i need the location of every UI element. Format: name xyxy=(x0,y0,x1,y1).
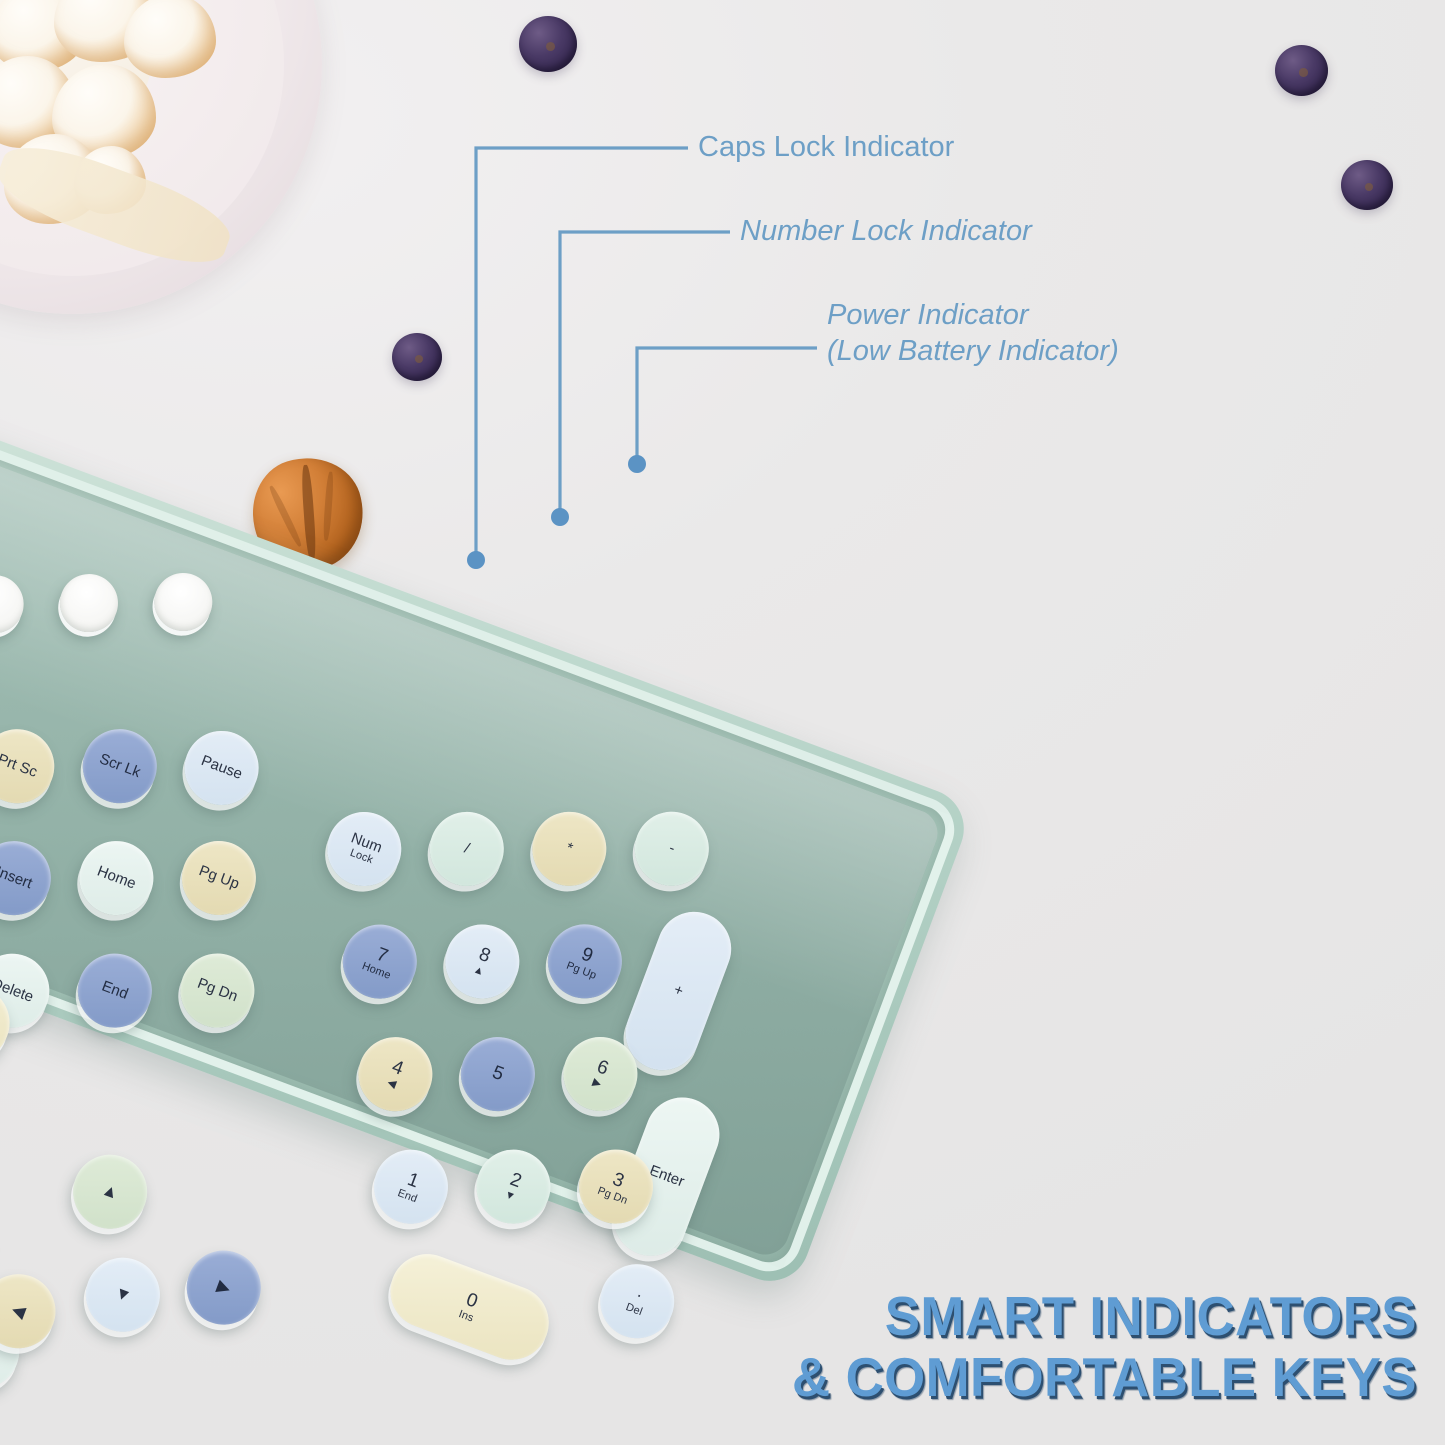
key-label: Pg Dn xyxy=(195,976,240,1005)
key-label: + xyxy=(672,982,686,1000)
key-arr-dn[interactable]: ▼ xyxy=(75,1247,170,1342)
callout-label-power: Power Indicator (Low Battery Indicator) xyxy=(827,298,1119,369)
key-label: ◀ xyxy=(9,1300,28,1321)
key-label: End xyxy=(100,979,131,1003)
key-sublabel: Home xyxy=(360,961,392,982)
key-sublabel: ▲ xyxy=(471,964,485,979)
key-label: / xyxy=(462,841,471,857)
key-label: Home xyxy=(95,864,138,893)
headline: SMART INDICATORS & COMFORTABLE KEYS xyxy=(792,1286,1417,1409)
key-sublabel: Del xyxy=(624,1302,644,1319)
key-arr-up[interactable]: ▲ xyxy=(63,1144,158,1239)
key-label: Insert xyxy=(0,864,34,892)
product-scene: F11ὐfF12⎔Prt ScScr LkPauseInsertHomePg U… xyxy=(0,0,1445,1445)
key-label: ▶ xyxy=(214,1277,233,1298)
blueberry xyxy=(519,16,577,72)
key-label: ▼ xyxy=(112,1283,134,1306)
callout-label-caps-lock: Caps Lock Indicator xyxy=(698,130,954,166)
key-sublabel: Pg Dn xyxy=(596,1186,629,1208)
key-label: Scr Lk xyxy=(97,751,142,781)
key-arr-lf[interactable]: ◀ xyxy=(0,1264,66,1359)
key-label: Prt Sc xyxy=(0,752,39,781)
key-label: · xyxy=(634,1286,646,1305)
key-label: - xyxy=(667,840,677,857)
key-sublabel: ▼ xyxy=(503,1189,517,1204)
blueberry xyxy=(1341,160,1393,210)
key-numdel[interactable]: ·Del xyxy=(590,1254,685,1349)
blueberry xyxy=(392,333,442,381)
key-label: ▲ xyxy=(99,1180,121,1203)
key-label: Delete xyxy=(0,976,35,1006)
key-label: Pg Up xyxy=(197,863,242,892)
key-sublabel: ▶ xyxy=(591,1077,603,1091)
key-sublabel: Pg Up xyxy=(565,960,598,982)
key-sublabel: ◀ xyxy=(386,1077,398,1091)
key-label: * xyxy=(564,840,575,857)
key-label: Pause xyxy=(199,753,244,783)
callout-label-num-lock: Number Lock Indicator xyxy=(740,214,1032,250)
blueberry xyxy=(1275,45,1328,96)
key-num0[interactable]: 0Ins xyxy=(380,1244,560,1371)
key-arr-rt[interactable]: ▶ xyxy=(176,1240,271,1335)
headline-line-1: SMART INDICATORS xyxy=(792,1286,1417,1348)
key-label: 5 xyxy=(489,1063,506,1086)
headline-line-2: & COMFORTABLE KEYS xyxy=(792,1347,1417,1409)
